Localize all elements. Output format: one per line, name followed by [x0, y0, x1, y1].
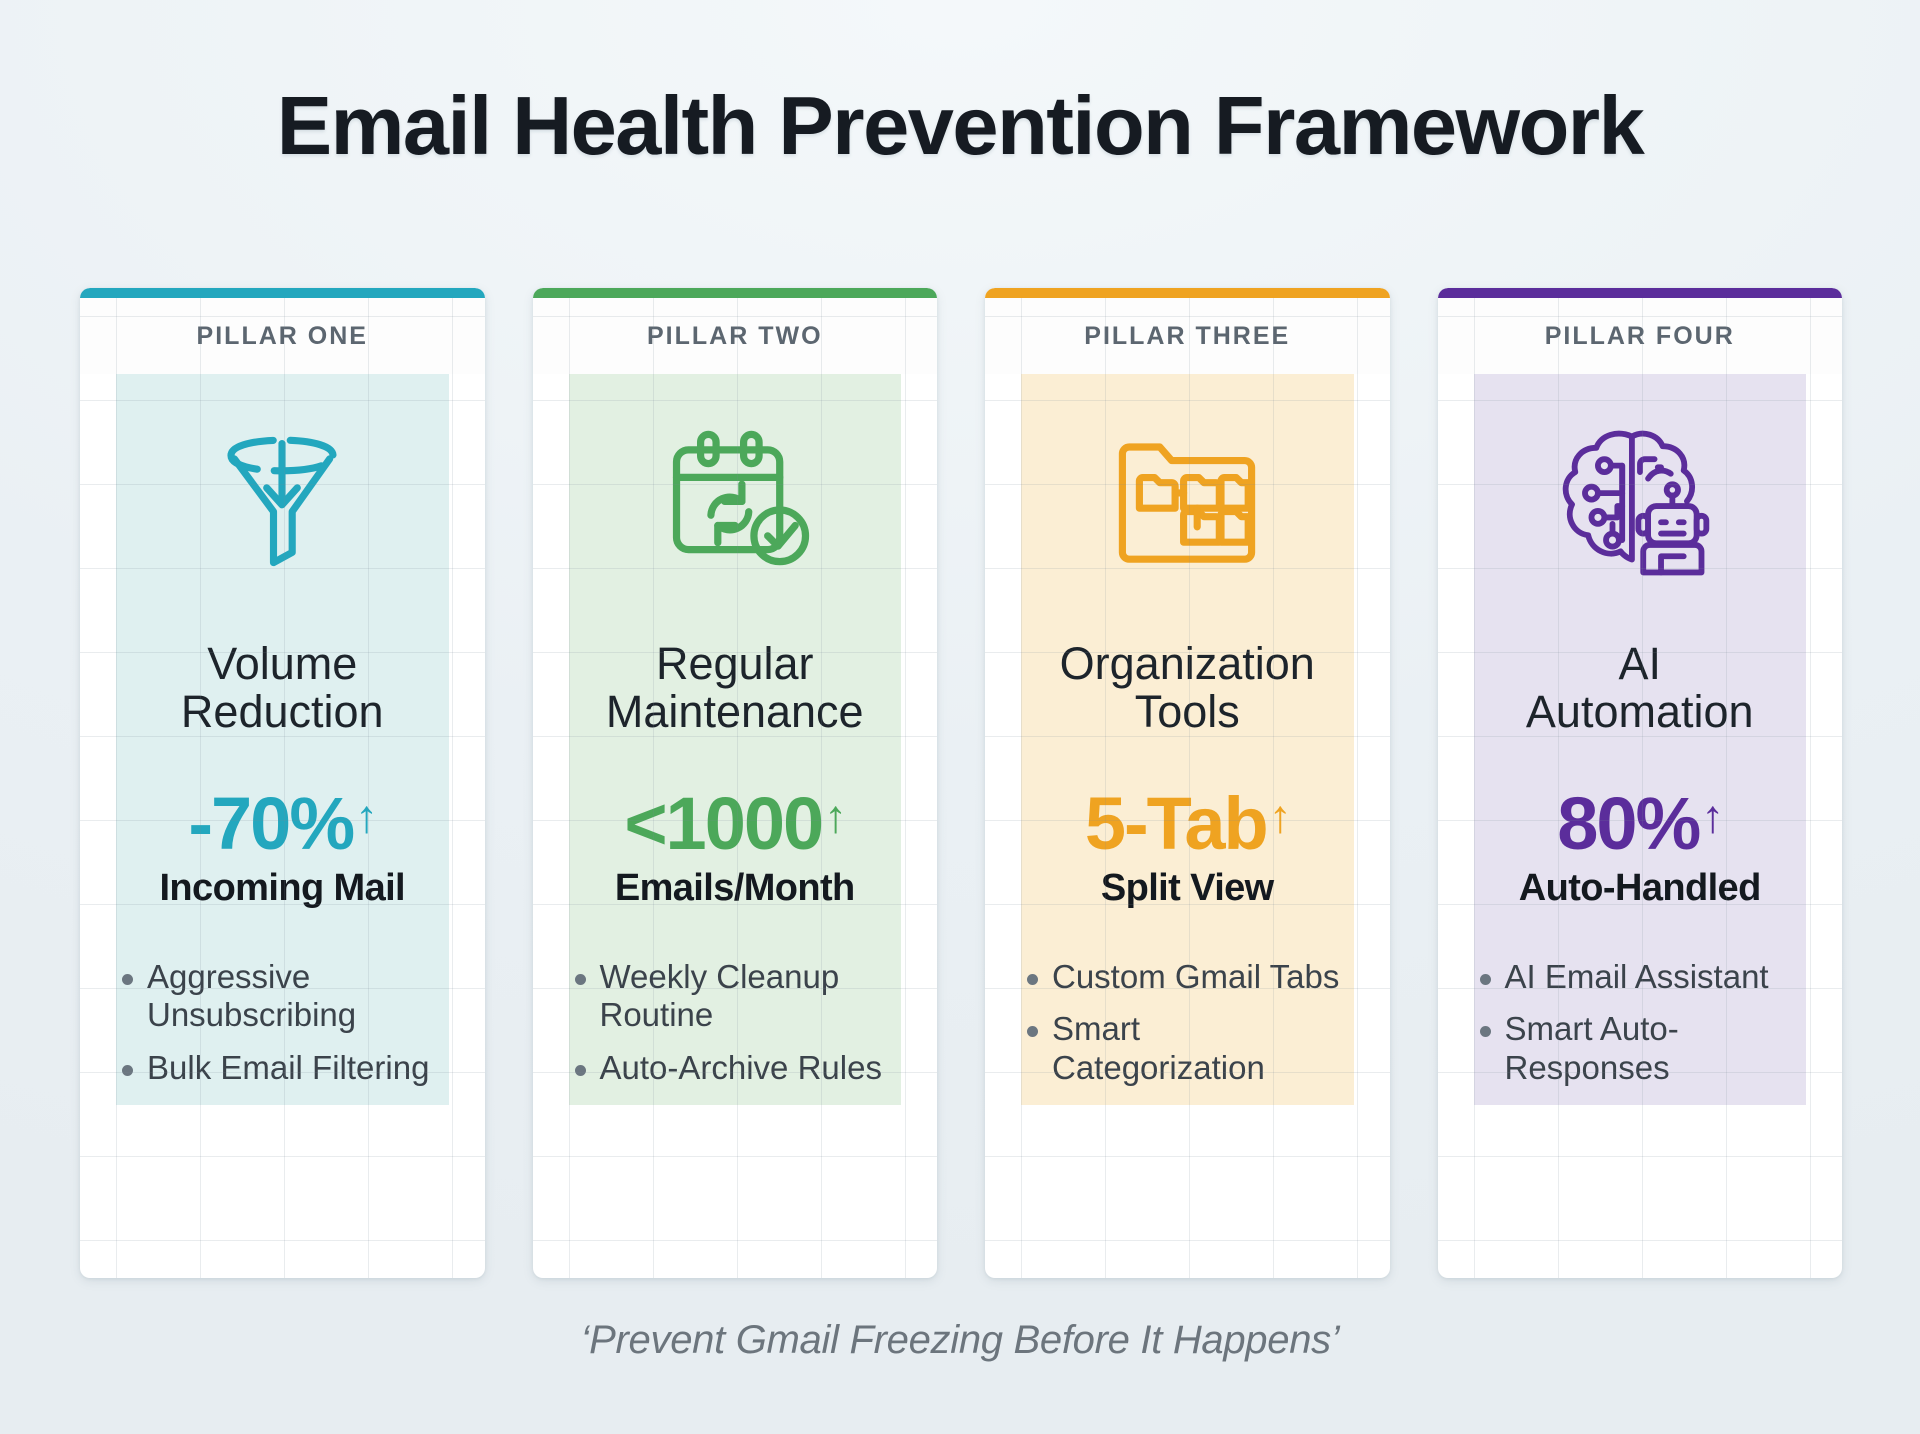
stat-band-four: 80% ↑ Auto-Handled: [1474, 754, 1807, 942]
bullet-dot-icon: [122, 974, 133, 985]
stat-caption-three: Split View: [1101, 867, 1274, 910]
stat-band-two: <1000 ↑ Emails/Month: [569, 754, 902, 942]
bullet-dot-icon: [1027, 1026, 1038, 1037]
stat-value: <1000: [624, 787, 822, 861]
footer-tagline: ‘Prevent Gmail Freezing Before It Happen…: [0, 1318, 1920, 1363]
pillar-body-three: Organization Tools 5-Tab ↑ Split View Cu…: [1021, 374, 1354, 1105]
trend-up-arrow-icon: ↑: [824, 793, 845, 839]
list-item: Smart Categorization: [1021, 1010, 1354, 1087]
stat-band-one: -70% ↑ Incoming Mail: [116, 754, 449, 942]
list-item-label: Custom Gmail Tabs: [1052, 958, 1339, 996]
pillar-label-three: PILLAR THREE: [985, 298, 1390, 374]
folder-tree-icon: [1021, 374, 1354, 622]
bullet-list-three: Custom Gmail Tabs Smart Categorization: [1021, 942, 1354, 1105]
stat-value-row-one: -70% ↑: [188, 787, 376, 861]
pillar-card-row: PILLAR ONE Volume Reduction: [80, 288, 1842, 1278]
brain-robot-icon: [1474, 374, 1807, 622]
infographic-page: Email Health Prevention Framework PILLAR…: [0, 0, 1920, 1434]
trend-up-arrow-icon: ↑: [1701, 793, 1722, 839]
list-item-label: Smart Categorization: [1052, 1010, 1354, 1087]
stat-value-row-two: <1000 ↑: [624, 787, 845, 861]
headline-line-2: Automation: [1526, 688, 1754, 736]
headline-line-1: Volume: [207, 640, 357, 688]
pillar-label-four: PILLAR FOUR: [1438, 298, 1843, 374]
page-title: Email Health Prevention Framework: [0, 78, 1920, 174]
pillar-body-two: Regular Maintenance <1000 ↑ Emails/Month…: [569, 374, 902, 1105]
pillar-card-two: PILLAR TWO: [533, 288, 938, 1278]
accent-bar-two: [533, 288, 938, 298]
list-item-label: Aggressive Unsubscribing: [147, 958, 449, 1035]
stat-value: -70%: [188, 787, 353, 861]
pillar-card-four: PILLAR FOUR: [1438, 288, 1843, 1278]
bullet-dot-icon: [575, 1065, 586, 1076]
stat-caption-two: Emails/Month: [615, 867, 855, 910]
headline-line-1: Organization: [1060, 640, 1315, 688]
list-item: Auto-Archive Rules: [569, 1049, 902, 1087]
bullet-dot-icon: [1027, 974, 1038, 985]
stat-caption-one: Incoming Mail: [159, 867, 405, 910]
stat-value: 5-Tab: [1085, 787, 1267, 861]
bullet-list-one: Aggressive Unsubscribing Bulk Email Filt…: [116, 942, 449, 1105]
headline-line-2: Maintenance: [606, 688, 864, 736]
calendar-refresh-check-icon: [569, 374, 902, 622]
list-item-label: Weekly Cleanup Routine: [600, 958, 902, 1035]
bullet-dot-icon: [575, 974, 586, 985]
stat-value: 80%: [1557, 787, 1699, 861]
bullet-dot-icon: [1480, 1026, 1491, 1037]
accent-bar-one: [80, 288, 485, 298]
stat-value-row-three: 5-Tab ↑: [1085, 787, 1290, 861]
pillar-card-one: PILLAR ONE Volume Reduction: [80, 288, 485, 1278]
pillar-body-four: AI Automation 80% ↑ Auto-Handled AI Emai…: [1474, 374, 1807, 1105]
headline-line-2: Tools: [1135, 688, 1240, 736]
trend-up-arrow-icon: ↑: [1269, 793, 1290, 839]
stat-band-three: 5-Tab ↑ Split View: [1021, 754, 1354, 942]
list-item-label: Auto-Archive Rules: [600, 1049, 882, 1087]
bullet-list-two: Weekly Cleanup Routine Auto-Archive Rule…: [569, 942, 902, 1105]
headline-line-1: AI: [1618, 640, 1661, 688]
pillar-headline-four: AI Automation: [1474, 622, 1807, 754]
pillar-headline-three: Organization Tools: [1021, 622, 1354, 754]
accent-bar-four: [1438, 288, 1843, 298]
list-item: Custom Gmail Tabs: [1021, 958, 1354, 996]
list-item-label: Bulk Email Filtering: [147, 1049, 429, 1087]
accent-bar-three: [985, 288, 1390, 298]
pillar-card-three: PILLAR THREE Organization: [985, 288, 1390, 1278]
bullet-dot-icon: [122, 1065, 133, 1076]
list-item-label: Smart Auto-Responses: [1505, 1010, 1807, 1087]
list-item: Bulk Email Filtering: [116, 1049, 449, 1087]
pillar-label-two: PILLAR TWO: [533, 298, 938, 374]
list-item: Weekly Cleanup Routine: [569, 958, 902, 1035]
list-item: Aggressive Unsubscribing: [116, 958, 449, 1035]
headline-line-1: Regular: [656, 640, 814, 688]
bullet-list-four: AI Email Assistant Smart Auto-Responses: [1474, 942, 1807, 1105]
stat-caption-four: Auto-Handled: [1519, 867, 1761, 910]
list-item: Smart Auto-Responses: [1474, 1010, 1807, 1087]
list-item: AI Email Assistant: [1474, 958, 1807, 996]
pillar-body-one: Volume Reduction -70% ↑ Incoming Mail Ag…: [116, 374, 449, 1105]
trend-up-arrow-icon: ↑: [355, 793, 376, 839]
pillar-headline-two: Regular Maintenance: [569, 622, 902, 754]
list-item-label: AI Email Assistant: [1505, 958, 1769, 996]
pillar-headline-one: Volume Reduction: [116, 622, 449, 754]
pillar-label-one: PILLAR ONE: [80, 298, 485, 374]
stat-value-row-four: 80% ↑: [1557, 787, 1722, 861]
funnel-icon: [116, 374, 449, 622]
headline-line-2: Reduction: [181, 688, 384, 736]
bullet-dot-icon: [1480, 974, 1491, 985]
